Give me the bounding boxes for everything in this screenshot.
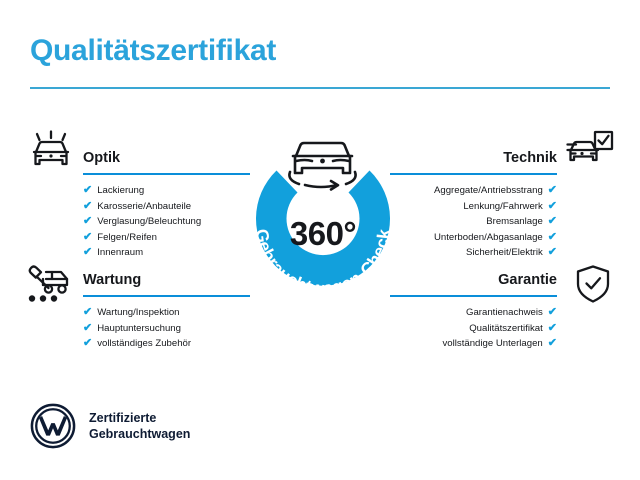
list-item: ✔Bremsanlage	[434, 214, 557, 230]
footer-line-2: Gebrauchtwagen	[89, 426, 190, 442]
check-icon: ✔	[83, 199, 92, 215]
check-icon: ✔	[548, 336, 557, 352]
list-item-label: vollständige Unterlagen	[443, 336, 543, 352]
list-item-label: Felgen/Reifen	[97, 230, 157, 246]
section-title-garantie: Garantie	[498, 272, 557, 288]
check-icon: ✔	[83, 336, 92, 352]
list-item: ✔Lackierung	[83, 183, 201, 199]
list-item: ✔vollständiges Zubehör	[83, 336, 191, 352]
checklist-garantie: ✔Garantienachweis ✔Qualitätszertifikat ✔…	[443, 305, 558, 352]
list-item-label: Garantienachweis	[466, 305, 543, 321]
wrench-car-icon	[24, 262, 74, 311]
list-item-label: Hauptuntersuchung	[97, 321, 181, 337]
section-title-optik: Optik	[83, 150, 120, 166]
car-lift-check-icon	[566, 130, 614, 179]
check-icon: ✔	[548, 214, 557, 230]
list-item-label: Aggregate/Antriebsstrang	[434, 183, 543, 199]
list-item: ✔Karosserie/Anbauteile	[83, 199, 201, 215]
check-icon: ✔	[83, 230, 92, 246]
checklist-wartung: ✔Wartung/Inspektion ✔Hauptuntersuchung ✔…	[83, 305, 191, 352]
list-item-label: Verglasung/Beleuchtung	[97, 214, 201, 230]
section-title-technik: Technik	[503, 150, 557, 166]
car-rotate-icon	[289, 143, 355, 190]
check-icon: ✔	[83, 214, 92, 230]
check-icon: ✔	[548, 321, 557, 337]
footer-brand: Zertifizierte Gebrauchtwagen	[30, 403, 190, 449]
section-divider-optik	[83, 173, 250, 175]
check-icon: ✔	[548, 245, 557, 261]
section-divider-wartung	[83, 295, 250, 297]
list-item: ✔Hauptuntersuchung	[83, 321, 191, 337]
section-title-wartung: Wartung	[83, 272, 141, 288]
check-icon: ✔	[548, 305, 557, 321]
page-title: Qualitätszertifikat	[30, 34, 276, 68]
list-item: ✔Unterboden/Abgasanlage	[434, 230, 557, 246]
car-shine-icon	[28, 130, 74, 179]
list-item-label: Bremsanlage	[486, 214, 543, 230]
list-item-label: Lackierung	[97, 183, 144, 199]
checklist-optik: ✔Lackierung ✔Karosserie/Anbauteile ✔Verg…	[83, 183, 201, 261]
vw-logo	[30, 403, 76, 449]
list-item: ✔Wartung/Inspektion	[83, 305, 191, 321]
checklist-technik: ✔Aggregate/Antriebsstrang ✔Lenkung/Fahrw…	[434, 183, 557, 261]
check-icon: ✔	[548, 230, 557, 246]
list-item-label: Innenraum	[97, 245, 143, 261]
list-item-label: Wartung/Inspektion	[97, 305, 179, 321]
list-item: ✔Garantienachweis	[443, 305, 558, 321]
list-item: ✔Verglasung/Beleuchtung	[83, 214, 201, 230]
list-item: ✔vollständige Unterlagen	[443, 336, 558, 352]
footer-text: Zertifizierte Gebrauchtwagen	[89, 410, 190, 442]
check-icon: ✔	[83, 305, 92, 321]
certificate-page: Qualitätszertifikat Optik ✔Lackierung ✔K…	[0, 0, 640, 480]
check-icon: ✔	[548, 183, 557, 199]
check-icon: ✔	[83, 183, 92, 199]
list-item-label: vollständiges Zubehör	[97, 336, 191, 352]
list-item: ✔Sicherheit/Elektrik	[434, 245, 557, 261]
list-item: ✔Innenraum	[83, 245, 201, 261]
list-item-label: Qualitätszertifikat	[469, 321, 543, 337]
check-icon: ✔	[548, 199, 557, 215]
check-icon: ✔	[83, 245, 92, 261]
list-item-label: Sicherheit/Elektrik	[466, 245, 543, 261]
section-divider-technik	[390, 173, 557, 175]
check-icon: ✔	[83, 321, 92, 337]
title-divider	[30, 87, 610, 89]
list-item: ✔Lenkung/Fahrwerk	[434, 199, 557, 215]
list-item: ✔Aggregate/Antriebsstrang	[434, 183, 557, 199]
footer-line-1: Zertifizierte	[89, 410, 190, 426]
list-item: ✔Qualitätszertifikat	[443, 321, 558, 337]
list-item-label: Karosserie/Anbauteile	[97, 199, 191, 215]
list-item: ✔Felgen/Reifen	[83, 230, 201, 246]
badge-center-label: 360°	[290, 215, 356, 252]
section-divider-garantie	[390, 295, 557, 297]
list-item-label: Unterboden/Abgasanlage	[434, 230, 543, 246]
list-item-label: Lenkung/Fahrwerk	[463, 199, 542, 215]
shield-check-icon	[573, 264, 613, 311]
360-check-badge: Gebrauchtwagen-Check 360°	[238, 122, 408, 312]
